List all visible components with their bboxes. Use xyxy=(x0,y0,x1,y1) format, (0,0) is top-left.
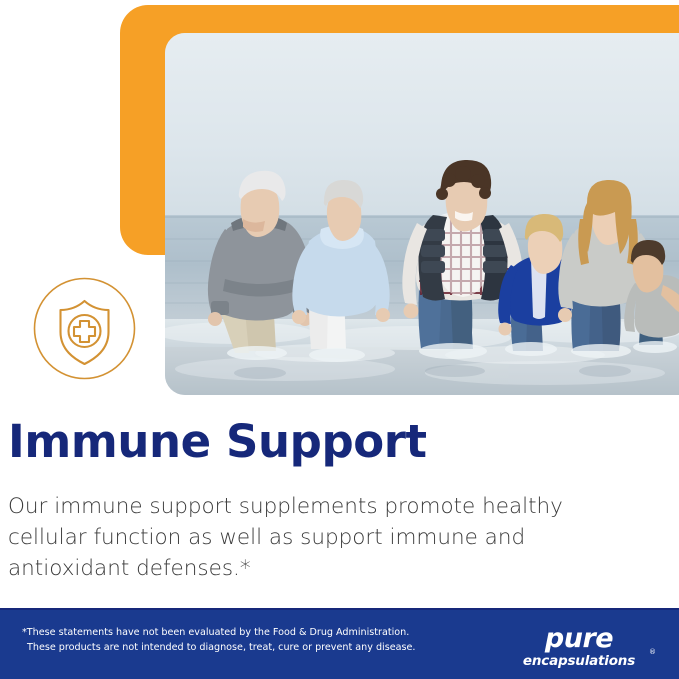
footer-top-rule xyxy=(0,608,679,610)
product-category-banner: Immune Support Our immune support supple… xyxy=(0,0,679,679)
shield-medical-cross-icon xyxy=(33,277,136,380)
registered-mark: ® xyxy=(649,648,656,656)
brand-tagline: encapsulations xyxy=(523,653,635,669)
brand-logo: pure encapsulations ® xyxy=(501,622,661,670)
fda-disclaimer-line-2: These products are not intended to diagn… xyxy=(22,640,442,655)
hero-photo xyxy=(165,33,679,395)
fda-disclaimer: *These statements have not been evaluate… xyxy=(22,625,442,655)
fda-disclaimer-line-1: *These statements have not been evaluate… xyxy=(22,625,442,640)
family-beach-illustration xyxy=(165,33,679,395)
page-title: Immune Support xyxy=(8,415,648,469)
page-description: Our immune support supplements promote h… xyxy=(8,491,608,584)
footer-bar: *These statements have not been evaluate… xyxy=(0,608,679,679)
brand-name: pure xyxy=(544,623,613,654)
copy-block: Immune Support Our immune support supple… xyxy=(8,415,648,584)
